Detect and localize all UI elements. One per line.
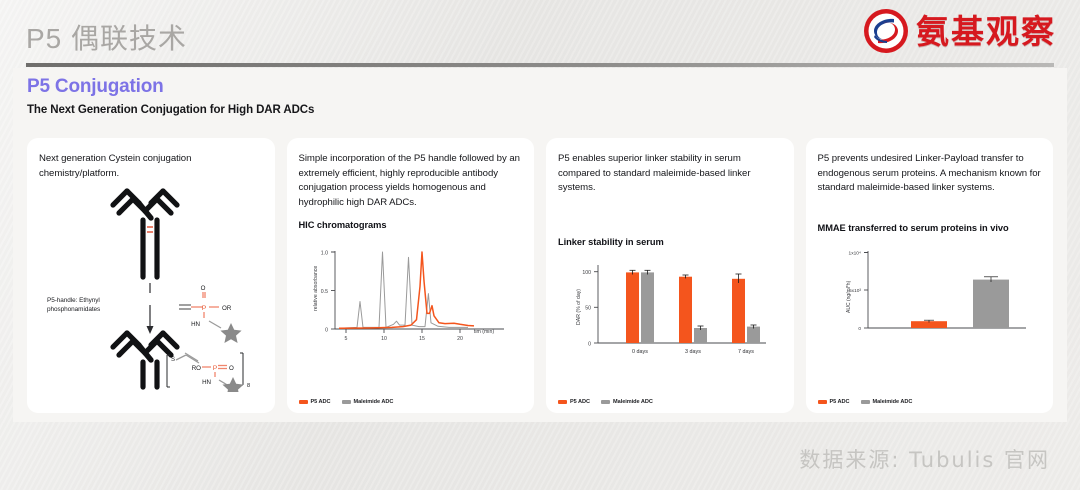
svg-text:8: 8: [247, 383, 250, 389]
legend-label-maleimide: Maleimide ADC: [873, 399, 913, 405]
svg-text:tim (min): tim (min): [473, 329, 493, 335]
slide-title: P5 Conjugation: [27, 76, 164, 98]
transfer-chart-svg: 1x10⁴ 5x10³ 0 AUC (ng/ml*h): [818, 243, 1043, 355]
card-concept-text: Next generation Cystein conjugation chem…: [39, 152, 263, 181]
card-row: Next generation Cystein conjugation chem…: [27, 138, 1053, 413]
svg-text:0: 0: [588, 342, 591, 348]
svg-text:O: O: [229, 365, 234, 372]
svg-text:100: 100: [582, 270, 591, 276]
legend-label-p5: P5 ADC: [311, 399, 331, 405]
svg-text:1.0: 1.0: [320, 250, 327, 256]
card-stability-text: P5 enables superior linker stability in …: [558, 152, 782, 196]
svg-text:AUC (ng/ml*h): AUC (ng/ml*h): [846, 281, 852, 314]
hic-chromatogram-chart: 1.0 0.5 0 5 10 15 20 tim (min) relative …: [299, 241, 524, 353]
schematic-svg: O P OR HN: [39, 187, 264, 392]
svg-text:20: 20: [457, 336, 463, 342]
legend-label-p5: P5 ADC: [830, 399, 850, 405]
legend-item-maleimide: Maleimide ADC: [342, 399, 394, 405]
svg-text:0.5: 0.5: [320, 289, 327, 295]
brand-logo-text: 氨基观察: [916, 15, 1056, 48]
card-hic-text: Simple incorporation of the P5 handle fo…: [299, 152, 523, 210]
svg-text:P: P: [202, 305, 207, 312]
legend-label-p5: P5 ADC: [570, 399, 590, 405]
svg-text:3 days: 3 days: [685, 349, 701, 355]
svg-text:HN: HN: [202, 379, 211, 386]
mmae-transfer-chart: 1x10⁴ 5x10³ 0 AUC (ng/ml*h): [818, 243, 1043, 355]
legend-label-maleimide: Maleimide ADC: [354, 399, 394, 405]
stability-chart-svg: 100 50 0 0 days 3 days 7 days DAR (% of …: [558, 257, 783, 369]
svg-text:5: 5: [344, 336, 347, 342]
slide-canvas: P5 Conjugation The Next Generation Conju…: [13, 68, 1067, 422]
legend-swatch-maleimide-icon: [861, 400, 870, 403]
circular-swoosh-emblem-icon: [863, 8, 909, 54]
svg-text:0 days: 0 days: [632, 349, 648, 355]
svg-text:1x10⁴: 1x10⁴: [848, 251, 860, 257]
svg-text:OR: OR: [222, 305, 232, 312]
card-hic-heading: HIC chromatograms: [299, 219, 523, 232]
card-transfer-heading: MMAE transferred to serum proteins in vi…: [818, 222, 1042, 235]
svg-text:DAR (% of day): DAR (% of day): [576, 289, 582, 325]
brand-logo: 氨基观察: [863, 8, 1056, 54]
svg-text:S: S: [171, 357, 175, 363]
svg-text:0: 0: [325, 327, 328, 333]
svg-text:relative absorbance: relative absorbance: [313, 265, 319, 310]
page-header: P5 偶联技术 氨基观察: [0, 0, 1080, 72]
transfer-legend: P5 ADC Maleimide ADC: [818, 399, 913, 405]
hic-legend: P5 ADC Maleimide ADC: [299, 399, 394, 405]
legend-item-p5: P5 ADC: [818, 399, 850, 405]
linker-stability-chart: 100 50 0 0 days 3 days 7 days DAR (% of …: [558, 257, 783, 369]
legend-swatch-p5-icon: [299, 400, 308, 403]
card-transfer-text: P5 prevents undesired Linker-Payload tra…: [818, 152, 1042, 196]
legend-swatch-p5-icon: [818, 400, 827, 403]
svg-text:P: P: [213, 365, 218, 372]
svg-text:7 days: 7 days: [738, 349, 754, 355]
deck-title: P5 偶联技术: [26, 17, 187, 57]
legend-swatch-maleimide-icon: [601, 400, 610, 403]
antibody-conjugation-schematic: O P OR HN: [39, 187, 263, 392]
card-stability-heading: Linker stability in serum: [558, 236, 782, 249]
hic-chart-svg: 1.0 0.5 0 5 10 15 20 tim (min) relative …: [299, 241, 524, 353]
svg-text:15: 15: [419, 336, 425, 342]
svg-text:O: O: [201, 285, 206, 292]
svg-text:RO: RO: [192, 365, 201, 372]
svg-text:50: 50: [585, 306, 591, 312]
legend-label-maleimide: Maleimide ADC: [613, 399, 653, 405]
card-transfer: P5 prevents undesired Linker-Payload tra…: [806, 138, 1054, 413]
svg-text:0: 0: [858, 326, 861, 332]
header-divider: [26, 63, 1054, 67]
source-footer: 数据来源: Tubulis 官网: [799, 444, 1050, 474]
legend-item-p5: P5 ADC: [558, 399, 590, 405]
legend-swatch-p5-icon: [558, 400, 567, 403]
stability-legend: P5 ADC Maleimide ADC: [558, 399, 653, 405]
legend-swatch-maleimide-icon: [342, 400, 351, 403]
card-concept: Next generation Cystein conjugation chem…: [27, 138, 275, 413]
svg-text:HN: HN: [191, 321, 200, 328]
legend-item-maleimide: Maleimide ADC: [861, 399, 913, 405]
card-hic: Simple incorporation of the P5 handle fo…: [287, 138, 535, 413]
slide-subtitle: The Next Generation Conjugation for High…: [27, 104, 314, 116]
p5-handle-label: P5-handle: Ethynyl phosphonamidates: [47, 297, 145, 314]
legend-item-maleimide: Maleimide ADC: [601, 399, 653, 405]
svg-text:10: 10: [381, 336, 387, 342]
card-stability: P5 enables superior linker stability in …: [546, 138, 794, 413]
legend-item-p5: P5 ADC: [299, 399, 331, 405]
